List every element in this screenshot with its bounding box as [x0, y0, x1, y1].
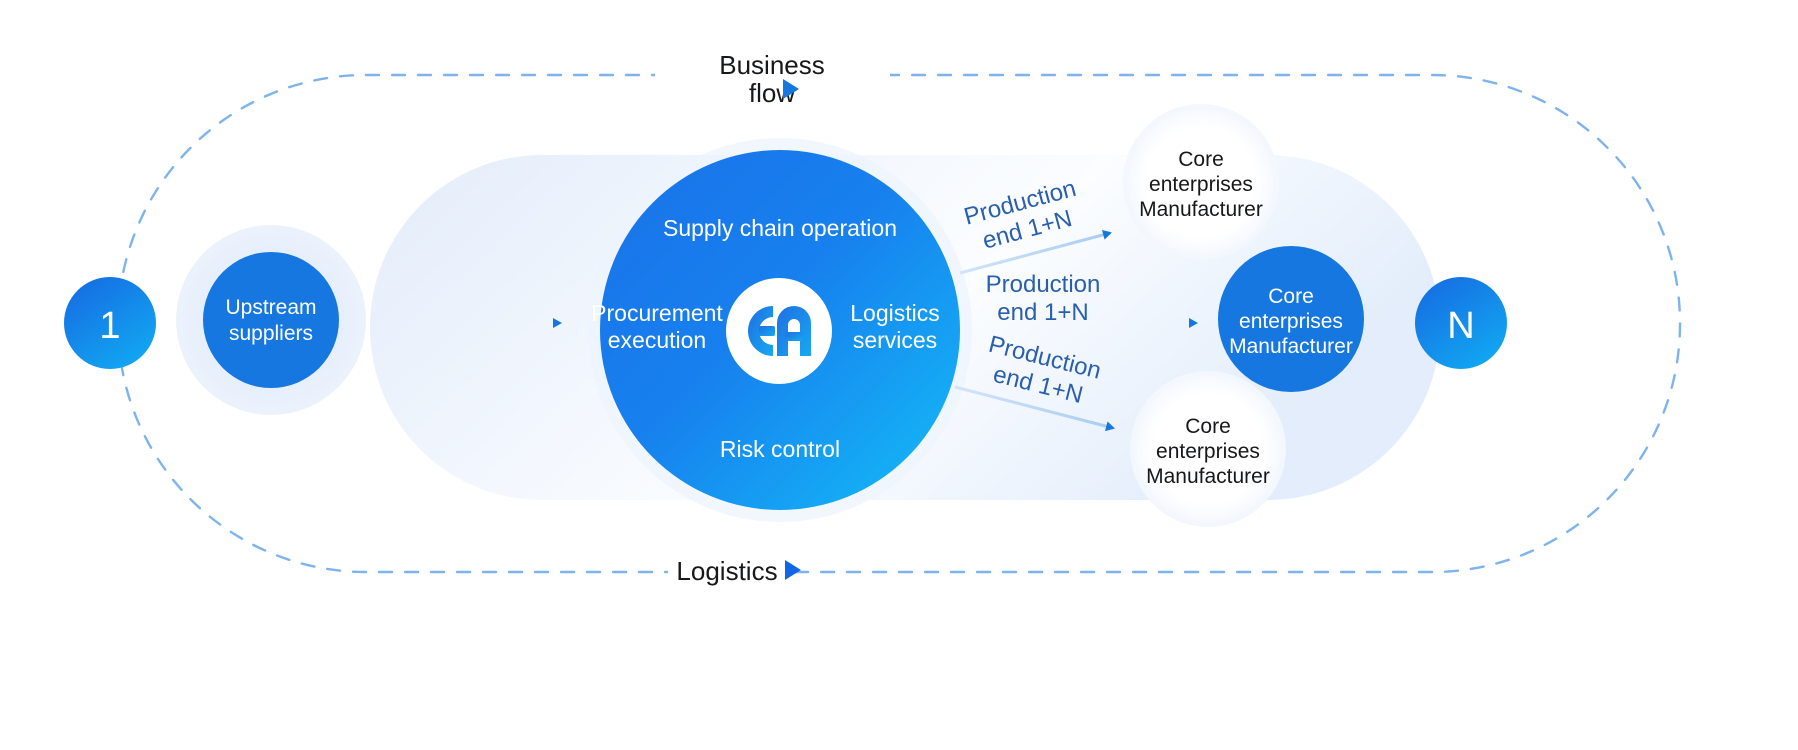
arrow-middle-label-line2: end 1+N [997, 299, 1088, 326]
core-enterprise-bottom-line3: Manufacturer [1146, 465, 1270, 488]
endpoint-n-label: N [1447, 305, 1474, 347]
hub-bottom-label: Risk control [720, 436, 840, 462]
arrow-label-production-middle: Production end 1+N [986, 271, 1101, 326]
upstream-suppliers-node[interactable] [203, 252, 339, 388]
core-enterprise-top-line1: Core [1178, 148, 1224, 171]
diagram-canvas: Upstream suppliers 1 N Supply chain oper… [0, 0, 1798, 750]
upstream-suppliers-label-line1: Upstream [225, 296, 316, 319]
core-enterprise-middle-line2: enterprises [1239, 310, 1343, 333]
core-enterprise-bottom-line2: enterprises [1156, 440, 1260, 463]
core-enterprise-top-line2: enterprises [1149, 173, 1253, 196]
hub-top-label: Supply chain operation [663, 215, 897, 241]
supply-chain-diagram: Upstream suppliers 1 N Supply chain oper… [0, 0, 1798, 750]
core-enterprise-middle-line3: Manufacturer [1229, 335, 1353, 358]
business-flow-label-line1: Business [719, 50, 825, 80]
upstream-suppliers-label-line2: suppliers [229, 322, 313, 345]
hub-left-label-line1: Procurement [591, 300, 723, 326]
endpoint-one-label: 1 [99, 305, 120, 347]
core-enterprise-bottom-line1: Core [1185, 415, 1231, 438]
logistics-arrow-icon [785, 560, 801, 580]
arrow-middle-label-line1: Production [986, 271, 1101, 298]
core-enterprise-top-line3: Manufacturer [1139, 198, 1263, 221]
core-enterprise-middle-line1: Core [1268, 285, 1314, 308]
hub-left-label-line2: execution [608, 327, 706, 353]
hub-right-label-line1: Logistics [850, 300, 939, 326]
hub-right-label-line2: services [853, 327, 937, 353]
logistics-label: Logistics [676, 556, 777, 586]
